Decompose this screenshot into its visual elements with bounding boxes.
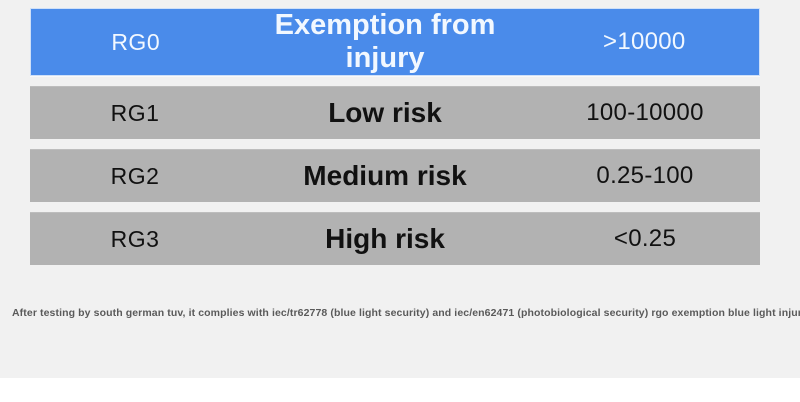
risk-grade-label: RG1 [30,100,240,127]
risk-group-table: RG0 Exemption from injury >10000 RG1 Low… [30,8,760,275]
risk-value-label: 0.25-100 [530,162,760,190]
risk-grade-label: RG2 [30,163,240,190]
risk-grade-label: RG3 [30,226,240,253]
risk-value-label: 100-10000 [530,99,760,127]
risk-description-label: High risk [240,223,530,255]
table-row: RG2 Medium risk 0.25-100 [30,149,760,202]
risk-group-infographic: RG0 Exemption from injury >10000 RG1 Low… [0,0,800,402]
compliance-footnote: After testing by south german tuv, it co… [12,306,792,320]
table-row: RG3 High risk <0.25 [30,212,760,265]
content-panel: RG0 Exemption from injury >10000 RG1 Low… [0,0,800,378]
table-row: RG1 Low risk 100-10000 [30,86,760,139]
table-row: RG0 Exemption from injury >10000 [30,8,760,76]
risk-description-label: Exemption from injury [240,9,529,75]
risk-value-label: <0.25 [530,225,760,253]
risk-grade-label: RG0 [31,29,240,56]
risk-description-label: Medium risk [240,160,530,192]
risk-value-label: >10000 [530,28,759,56]
risk-description-label: Low risk [240,97,530,129]
